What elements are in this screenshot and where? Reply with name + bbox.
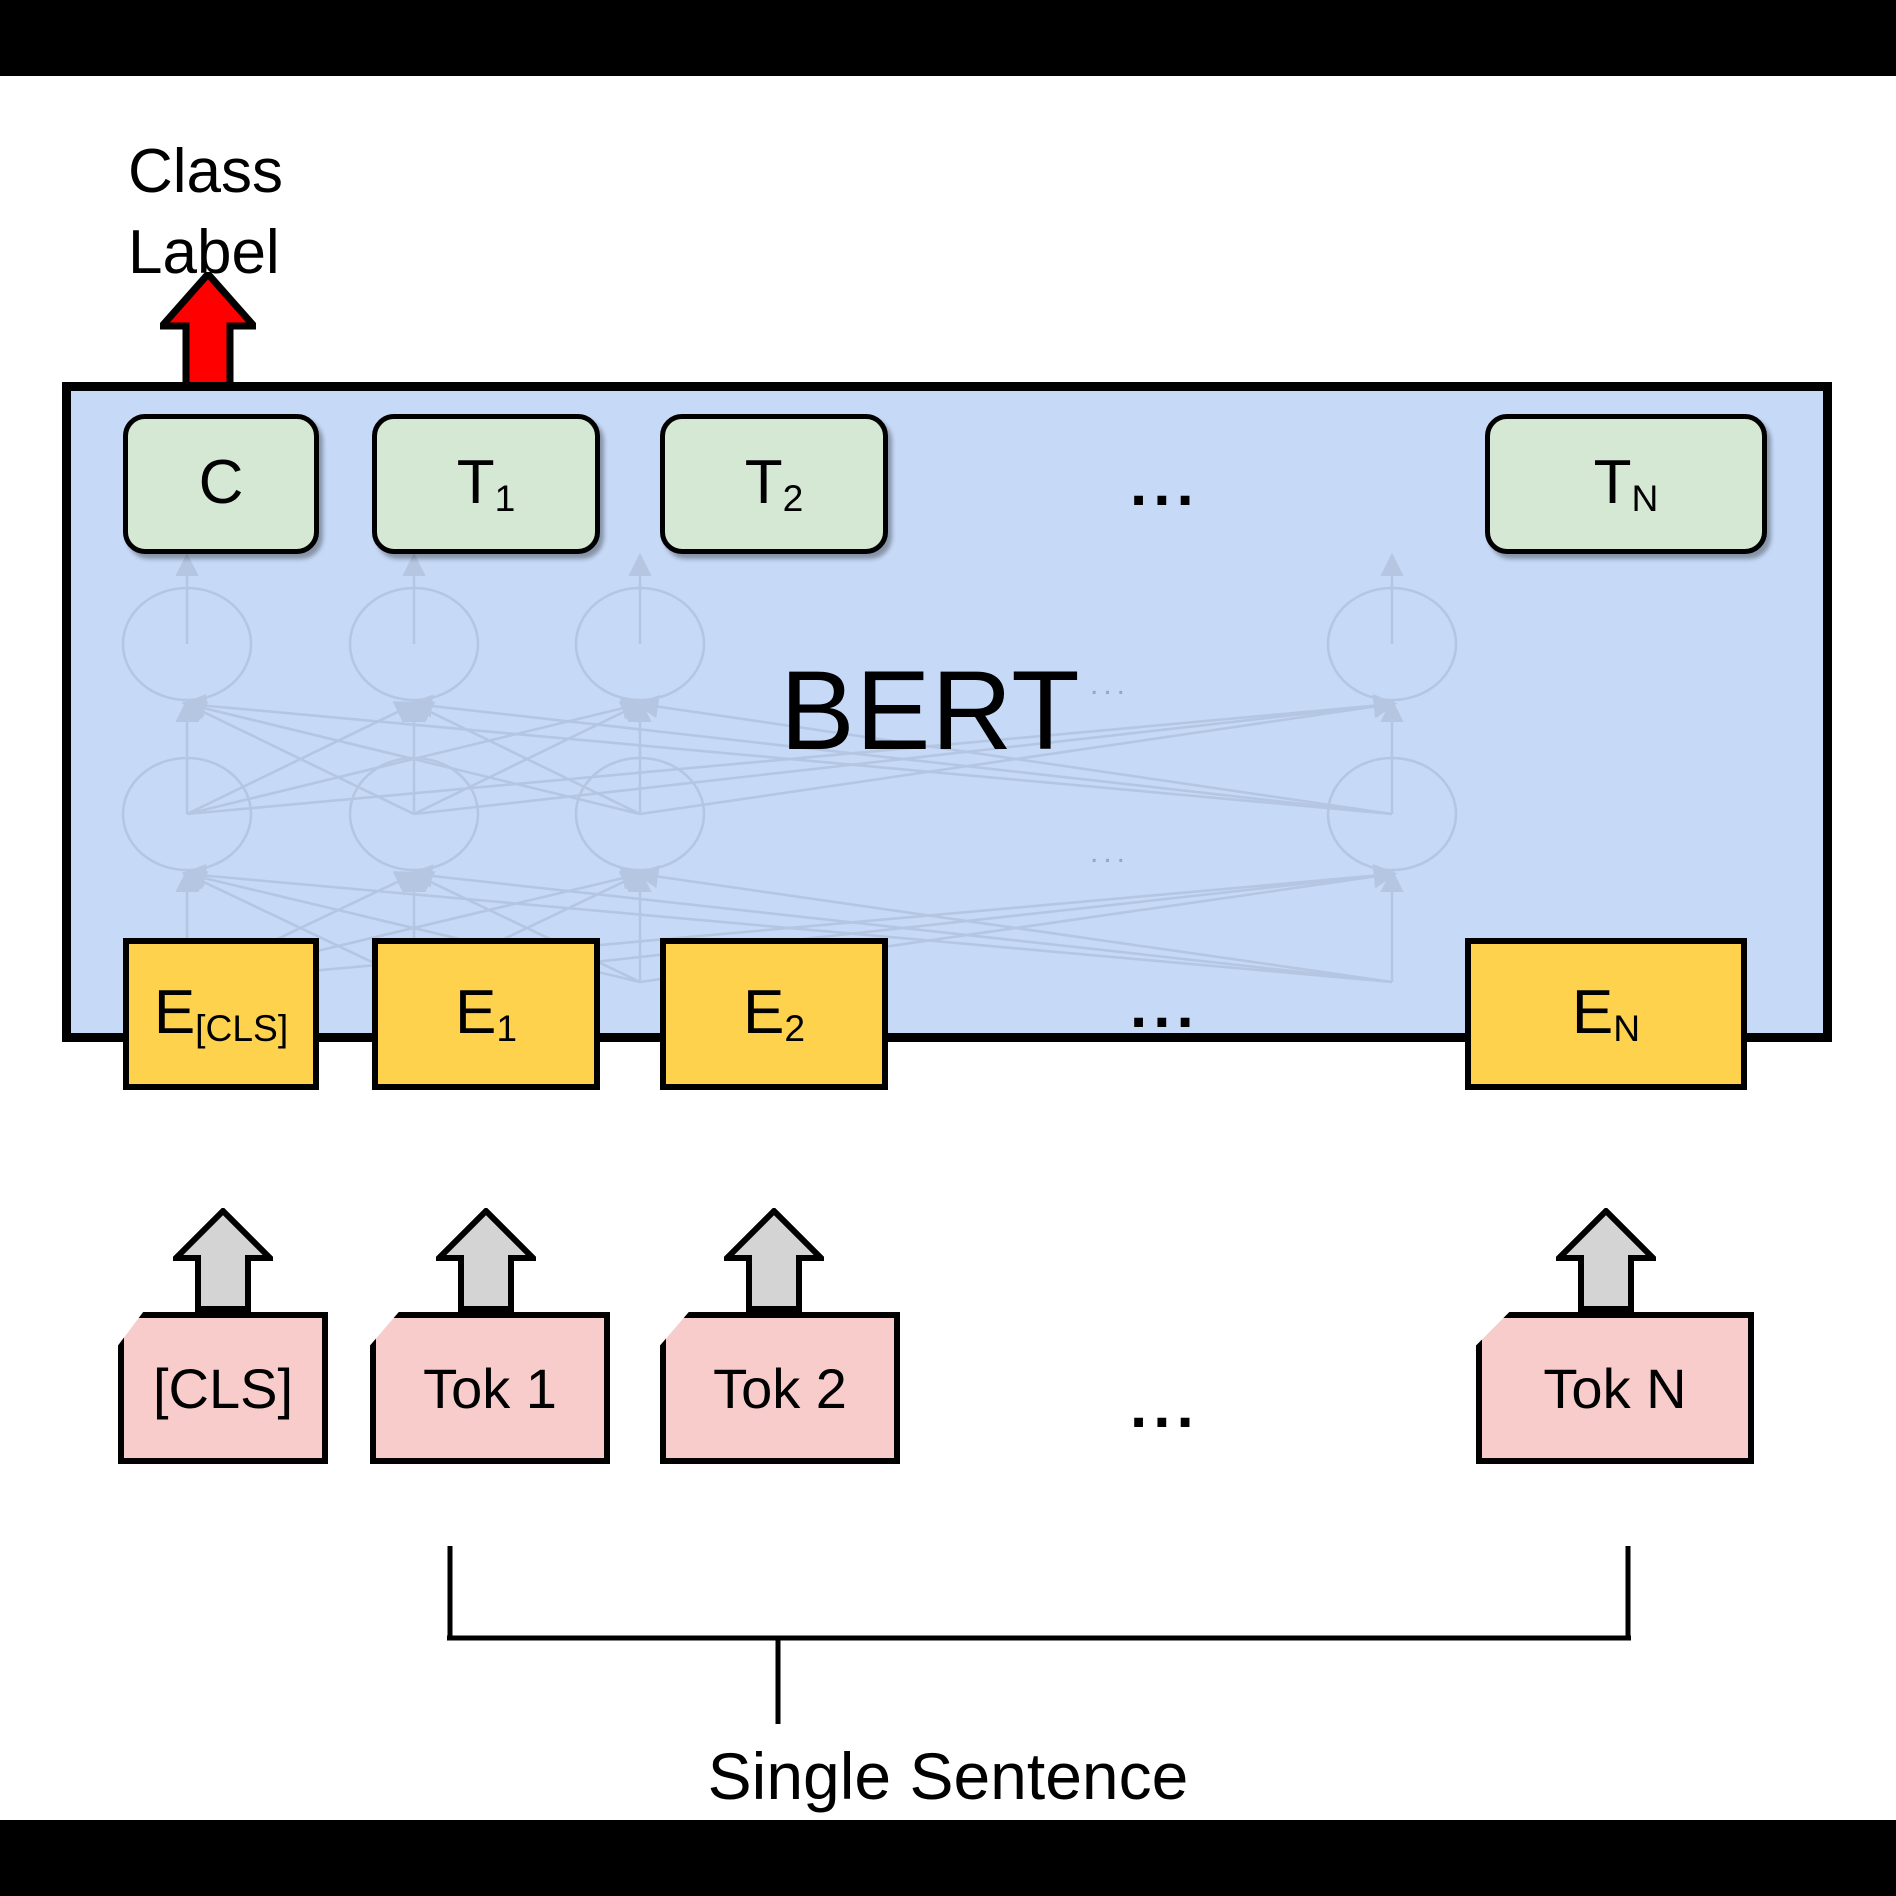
embedding-label-3: EN	[1572, 977, 1640, 1050]
input-token-box-3[interactable]: Tok N	[1476, 1312, 1754, 1464]
class-arrow-icon	[160, 272, 256, 400]
embedding-label-1: E1	[455, 977, 517, 1050]
embedding-box-1[interactable]: E1	[372, 938, 600, 1090]
figure-canvas: Class Label	[0, 76, 1896, 1820]
output-token-label-0: C	[199, 447, 244, 520]
embedding-box-0[interactable]: E[CLS]	[123, 938, 319, 1090]
embedding-label-2: E2	[743, 977, 805, 1050]
embedding-ellipsis: ...	[1130, 976, 1200, 1038]
embedding-label-0: E[CLS]	[154, 977, 288, 1050]
output-token-box-3[interactable]: TN	[1485, 414, 1767, 554]
network-ellipsis-upper: ...	[1090, 668, 1130, 702]
input-token-label-0: [CLS]	[153, 1356, 293, 1421]
output-token-box-2[interactable]: T2	[660, 414, 888, 554]
input-arrow-icon-0	[173, 1208, 273, 1312]
network-ellipsis-lower: ...	[1090, 836, 1130, 870]
output-token-box-0[interactable]: C	[123, 414, 319, 554]
input-token-label-2: Tok 2	[713, 1356, 847, 1421]
embedding-box-2[interactable]: E2	[660, 938, 888, 1090]
input-arrow-icon-2	[724, 1208, 824, 1312]
figure-stage: Class Label	[0, 0, 1896, 1896]
output-token-box-1[interactable]: T1	[372, 414, 600, 554]
input-token-ellipsis: ...	[1130, 1376, 1200, 1438]
sentence-caption: Single Sentence	[0, 1738, 1896, 1814]
input-token-label-1: Tok 1	[423, 1356, 557, 1421]
output-token-label-1: T1	[457, 447, 516, 520]
input-token-label-3: Tok N	[1543, 1356, 1686, 1421]
input-token-box-1[interactable]: Tok 1	[370, 1312, 610, 1464]
embedding-box-3[interactable]: EN	[1465, 938, 1747, 1090]
input-arrow-icon-1	[436, 1208, 536, 1312]
input-arrow-icon-3	[1556, 1208, 1656, 1312]
class-label-text: Class Label	[128, 132, 283, 293]
output-token-ellipsis: ...	[1130, 454, 1200, 516]
output-token-label-2: T2	[745, 447, 804, 520]
input-token-box-0[interactable]: [CLS]	[118, 1312, 328, 1464]
input-token-box-2[interactable]: Tok 2	[660, 1312, 900, 1464]
sentence-bracket	[400, 1546, 1660, 1726]
bert-label: BERT	[780, 646, 1081, 775]
output-token-label-3: TN	[1594, 447, 1659, 520]
